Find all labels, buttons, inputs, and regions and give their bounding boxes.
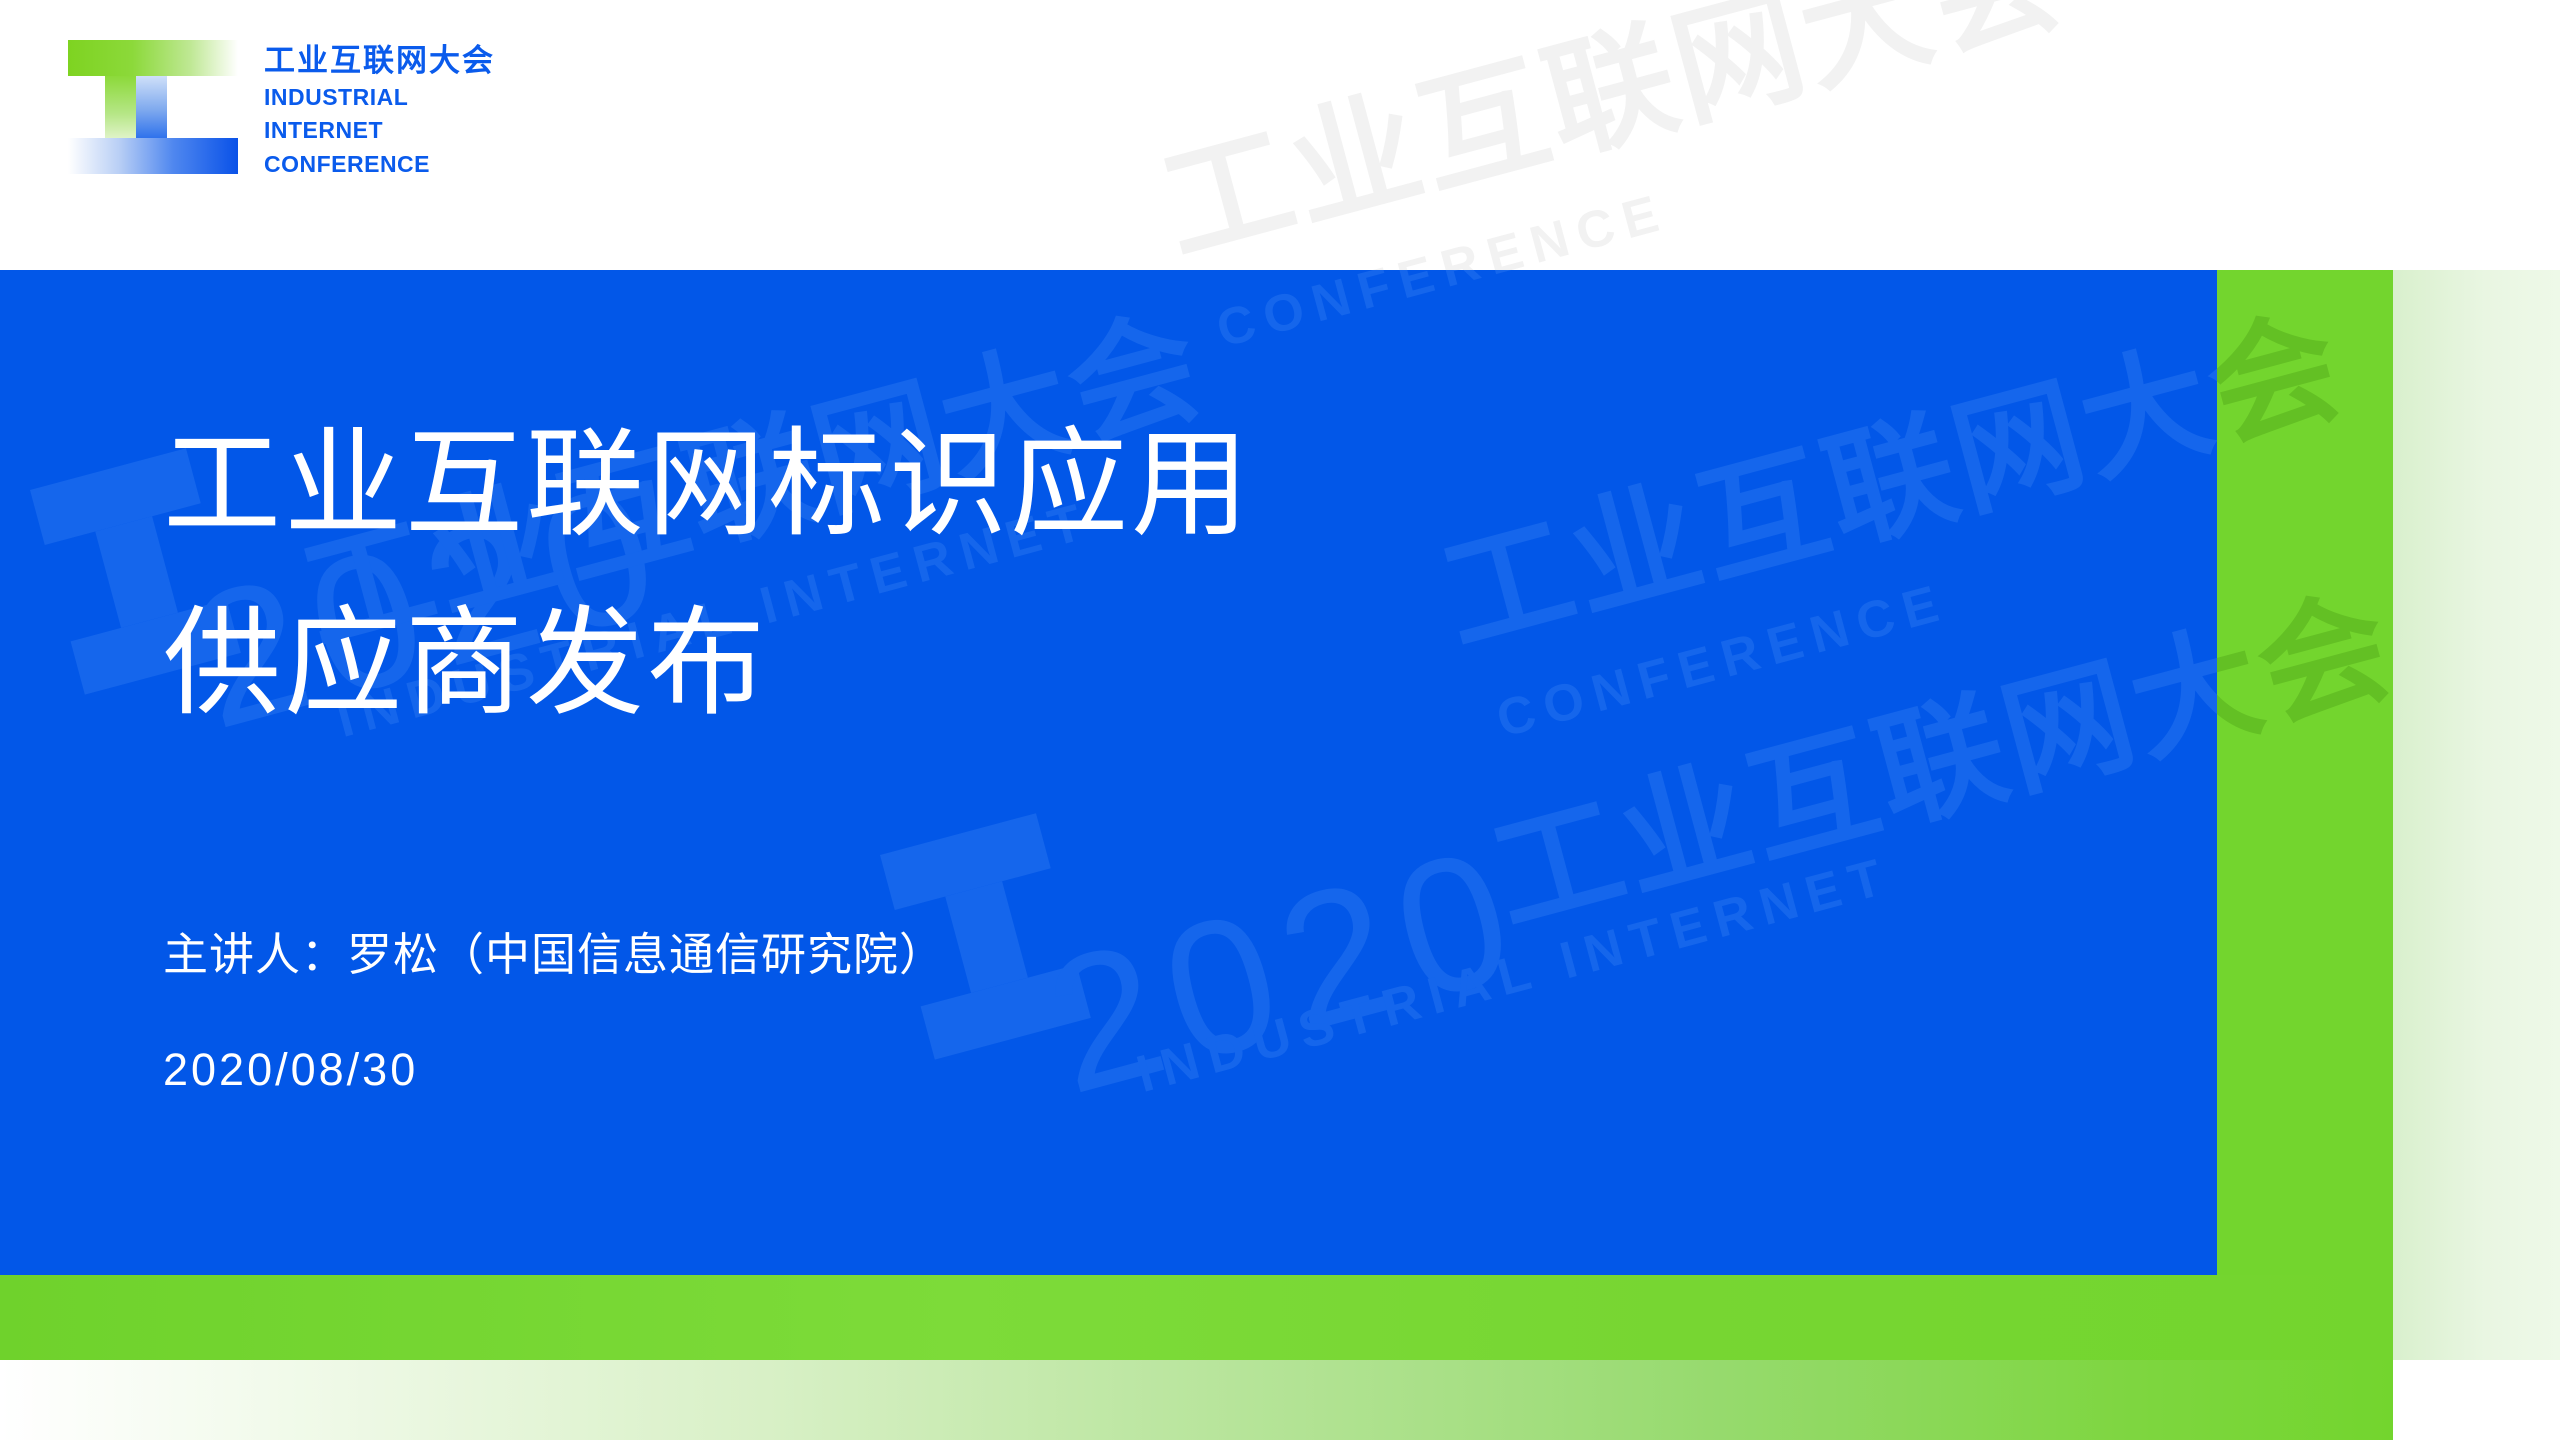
logo-mark-bottom-bar bbox=[68, 138, 238, 174]
watermark-lockup: 工业互联网大会 bbox=[1150, 270, 2076, 274]
watermark-en-line2: CONFERENCE bbox=[1210, 270, 1675, 363]
title-slide: 工业互联网大会 CONFERENCE 工业互联网大会 CONFERENCE bbox=[0, 0, 2560, 1440]
logo-mark-stem-blue bbox=[136, 76, 167, 138]
slide-title: 工业互联网标识应用 供应商发布 bbox=[163, 395, 1252, 754]
slide-meta: 主讲人：罗松（中国信息通信研究院） 2020/08/30 bbox=[163, 925, 945, 1101]
logo-wordmark: 工业互联网大会 INDUSTRIAL INTERNET CONFERENCE bbox=[264, 40, 495, 179]
logo-english-line-3: CONFERENCE bbox=[264, 150, 495, 179]
watermark-lockup: CONFERENCE bbox=[1210, 270, 1675, 363]
conference-logo: 工业互联网大会 INDUSTRIAL INTERNET CONFERENCE bbox=[68, 40, 495, 179]
watermark-cn-text: 工业互联网大会 bbox=[1150, 270, 2076, 274]
watermark-lockup: 工业互联网大会 bbox=[2217, 581, 2393, 944]
title-line-1: 工业互联网标识应用 bbox=[163, 395, 1252, 574]
logo-mark-top-bar bbox=[68, 40, 238, 76]
accent-band-green-bottom bbox=[0, 1275, 2393, 1360]
accent-band-green-fade bbox=[0, 1360, 2393, 1440]
logo-english-line-1: INDUSTRIAL bbox=[264, 83, 495, 112]
i-beam-logo-mark-icon bbox=[68, 40, 238, 160]
mark-stem bbox=[945, 881, 1028, 993]
watermark-cn-text: 工业互联网大会 bbox=[2217, 581, 2393, 944]
title-line-2: 供应商发布 bbox=[163, 574, 1252, 753]
date-line: 2020/08/30 bbox=[163, 1040, 945, 1101]
accent-band-light-green bbox=[2393, 270, 2560, 1360]
logo-english-line-2: INTERNET bbox=[264, 116, 495, 145]
presenter-line: 主讲人：罗松（中国信息通信研究院） bbox=[163, 925, 945, 986]
watermark-region-green: 工业互联网大会 CONFERENCE 工业互联网大会 bbox=[2217, 270, 2393, 1440]
logo-chinese-name: 工业互联网大会 bbox=[264, 44, 495, 79]
logo-mark-stem-green bbox=[105, 76, 136, 138]
